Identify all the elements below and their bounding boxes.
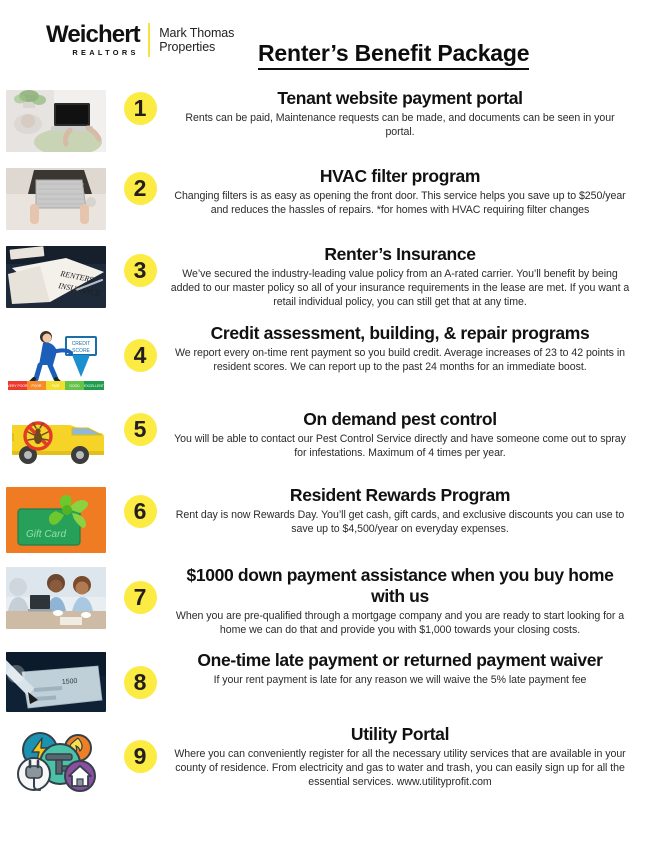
benefit-number-badge: 9: [124, 740, 157, 773]
weichert-wordmark: Weichert REALTORS: [46, 23, 140, 57]
benefit-row: 2 HVAC filter program Changing filters i…: [0, 166, 650, 230]
benefit-image-cell: [0, 565, 112, 629]
benefit-title: $1000 down payment assistance when you b…: [170, 565, 630, 607]
benefit-text-cell: One-time late payment or returned paymen…: [168, 650, 636, 687]
benefit-image-cell: RENTERS INSURANCE: [0, 244, 112, 308]
benefit-title: On demand pest control: [170, 409, 630, 430]
benefit-badge-cell: 1: [112, 88, 168, 125]
svg-text:SCORE: SCORE: [72, 348, 90, 354]
svg-text:POOR: POOR: [32, 384, 43, 388]
logo-partner-line-2: Properties: [159, 40, 234, 54]
benefit-badge-cell: 8: [112, 650, 168, 699]
benefits-list: 1 Tenant website payment portal Rents ca…: [0, 88, 650, 796]
benefit-badge-cell: 3: [112, 244, 168, 287]
weichert-logo: Weichert REALTORS Mark Thomas Properties: [46, 23, 234, 57]
benefit-row: Gift Card 6 Resident Rewards Program Ren…: [0, 485, 650, 553]
benefit-text-cell: $1000 down payment assistance when you b…: [168, 565, 636, 637]
benefit-text-cell: On demand pest control You will be able …: [168, 409, 636, 460]
benefit-badge-cell: 6: [112, 485, 168, 528]
benefit-text-cell: Renter’s Insurance We’ve secured the ind…: [168, 244, 636, 310]
svg-text:Gift Card: Gift Card: [26, 529, 66, 540]
benefit-number-badge: 2: [124, 172, 157, 205]
logo-divider: [148, 23, 151, 57]
benefit-badge-cell: 9: [112, 724, 168, 773]
svg-text:FAIR: FAIR: [52, 384, 60, 388]
logo-partner-line-1: Mark Thomas: [159, 26, 234, 40]
logo-name: Weichert: [46, 23, 140, 47]
benefit-row: 1 Tenant website payment portal Rents ca…: [0, 88, 650, 152]
benefit-number-badge: 7: [124, 581, 157, 614]
benefit-title: Resident Rewards Program: [170, 485, 630, 506]
benefit-title: One-time late payment or returned paymen…: [170, 650, 630, 671]
benefit-description: Rents can be paid, Maintenance requests …: [170, 111, 630, 139]
svg-text:VERY POOR: VERY POOR: [7, 384, 28, 388]
benefit-row: 9 Utility Portal Where you can convenien…: [0, 724, 650, 796]
benefit-description: You will be able to contact our Pest Con…: [170, 432, 630, 460]
benefit-number-badge: 5: [124, 413, 157, 446]
benefit-description: When you are pre-qualified through a mor…: [170, 609, 630, 637]
benefit-row: CREDIT SCORE: [0, 323, 650, 395]
svg-text:EXCELLENT: EXCELLENT: [84, 384, 104, 388]
benefit-title: HVAC filter program: [170, 166, 630, 187]
benefit-text-cell: HVAC filter program Changing filters is …: [168, 166, 636, 217]
svg-text:CREDIT: CREDIT: [72, 341, 91, 347]
logo-partner-name: Mark Thomas Properties: [159, 26, 234, 54]
benefit-image-cell: [0, 724, 112, 796]
pest-control-van-illustration: [6, 411, 106, 473]
benefit-number-badge: 8: [124, 666, 157, 699]
benefit-image-cell: [0, 409, 112, 473]
benefit-number-badge: 6: [124, 495, 157, 528]
check-writing-photo: 1500: [6, 652, 106, 712]
benefit-text-cell: Tenant website payment portal Rents can …: [168, 88, 636, 139]
svg-text:GOOD: GOOD: [69, 384, 80, 388]
logo-subtitle: REALTORS: [46, 48, 140, 57]
benefit-description: Rent day is now Rewards Day. You’ll get …: [170, 508, 630, 536]
svg-text:1500: 1500: [62, 678, 78, 686]
benefit-badge-cell: 5: [112, 409, 168, 446]
credit-score-meter-illustration: CREDIT SCORE: [6, 325, 106, 395]
mortgage-meeting-photo: [6, 567, 106, 629]
benefit-row: 7 $1000 down payment assistance when you…: [0, 565, 650, 637]
utility-icons-illustration: [6, 726, 106, 796]
benefit-description: Where you can conveniently register for …: [170, 747, 630, 790]
ceiling-air-filter-photo: [6, 168, 106, 230]
benefit-title: Credit assessment, building, & repair pr…: [170, 323, 630, 344]
benefit-description: If your rent payment is late for any rea…: [170, 673, 630, 687]
benefit-title: Tenant website payment portal: [170, 88, 630, 109]
laptop-desk-photo: [6, 90, 106, 152]
benefit-number-badge: 3: [124, 254, 157, 287]
renters-benefit-package-page: Weichert REALTORS Mark Thomas Properties…: [0, 0, 650, 841]
benefit-row: 5 On demand pest control You will be abl…: [0, 409, 650, 473]
page-title: Renter’s Benefit Package: [258, 40, 529, 70]
benefit-image-cell: [0, 166, 112, 230]
benefit-image-cell: 1500: [0, 650, 112, 712]
benefit-title: Renter’s Insurance: [170, 244, 630, 265]
benefit-description: We’ve secured the industry-leading value…: [170, 267, 630, 310]
benefit-title: Utility Portal: [170, 724, 630, 745]
benefit-badge-cell: 2: [112, 166, 168, 205]
benefit-badge-cell: 4: [112, 323, 168, 372]
benefit-row: 1500 8 One-time late payment or returned…: [0, 650, 650, 712]
benefit-row: RENTERS INSURANCE 3 Renter’s Insurance W…: [0, 244, 650, 310]
benefit-number-badge: 1: [124, 92, 157, 125]
benefit-image-cell: CREDIT SCORE: [0, 323, 112, 395]
page-header: Weichert REALTORS Mark Thomas Properties…: [0, 0, 650, 78]
benefit-text-cell: Credit assessment, building, & repair pr…: [168, 323, 636, 374]
benefit-description: Changing filters is as easy as opening t…: [170, 189, 630, 217]
benefit-image-cell: [0, 88, 112, 152]
benefit-number-badge: 4: [124, 339, 157, 372]
benefit-image-cell: Gift Card: [0, 485, 112, 553]
benefit-description: We report every on-time rent payment so …: [170, 346, 630, 374]
gift-card-illustration: Gift Card: [6, 487, 106, 553]
benefit-badge-cell: 7: [112, 565, 168, 614]
benefit-text-cell: Utility Portal Where you can convenientl…: [168, 724, 636, 790]
renters-insurance-document-photo: RENTERS INSURANCE: [6, 246, 106, 308]
benefit-text-cell: Resident Rewards Program Rent day is now…: [168, 485, 636, 536]
